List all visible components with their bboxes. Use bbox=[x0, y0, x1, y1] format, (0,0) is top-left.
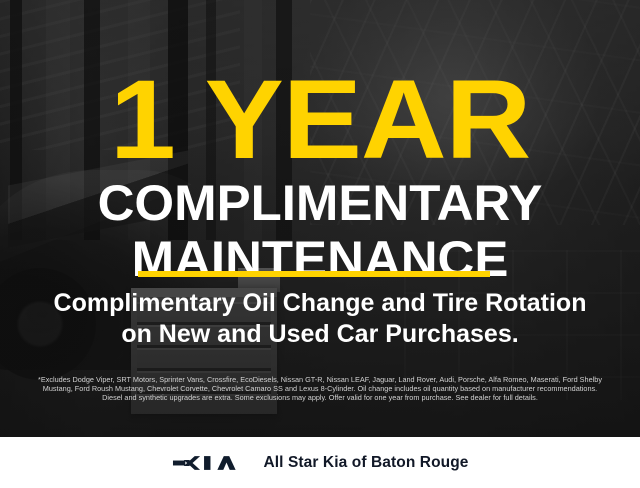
subheadline-complimentary-maintenance: COMPLIMENTARY MAINTENANCE bbox=[0, 178, 640, 284]
tagline-line-1: Complimentary Oil Change and Tire Rotati… bbox=[54, 289, 587, 317]
subheadline-line-1: COMPLIMENTARY bbox=[98, 175, 543, 231]
yellow-divider-rule bbox=[138, 271, 490, 277]
dealer-footer-band: All Star Kia of Baton Rouge bbox=[0, 437, 640, 488]
disclaimer-line-1: *Excludes Dodge Viper, SRT Motors, Sprin… bbox=[14, 375, 626, 384]
disclaimer-line-3: Diesel and synthetic upgrades are extra.… bbox=[14, 393, 626, 402]
promo-banner: 1 YEAR COMPLIMENTARY MAINTENANCE Complim… bbox=[0, 0, 640, 488]
kia-logo-icon bbox=[171, 453, 245, 473]
tagline: Complimentary Oil Change and Tire Rotati… bbox=[0, 288, 640, 350]
footer-content: All Star Kia of Baton Rouge bbox=[0, 437, 640, 488]
dealer-name: All Star Kia of Baton Rouge bbox=[263, 454, 468, 472]
headline-1-year: 1 YEAR bbox=[0, 64, 640, 176]
tagline-line-2: on New and Used Car Purchases. bbox=[121, 320, 518, 348]
banner-content: 1 YEAR COMPLIMENTARY MAINTENANCE Complim… bbox=[0, 0, 640, 488]
disclaimer-fine-print: *Excludes Dodge Viper, SRT Motors, Sprin… bbox=[14, 375, 626, 402]
disclaimer-line-2: Mustang, Ford Roush Mustang, Chevrolet C… bbox=[14, 384, 626, 393]
